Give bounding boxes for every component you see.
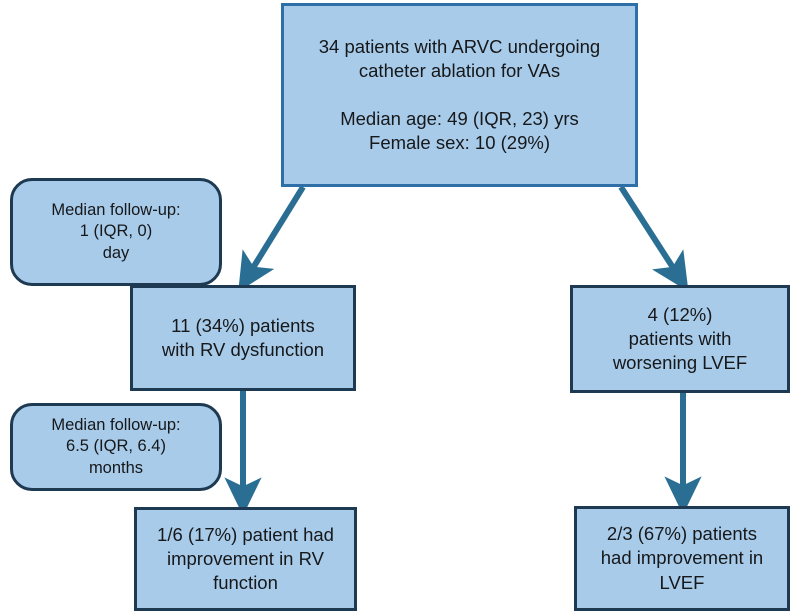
node-followup-1: Median follow-up: 1 (IQR, 0) day	[10, 178, 222, 286]
node-cohort: 34 patients with ARVC undergoing cathete…	[281, 3, 638, 187]
node-lvef-improvement: 2/3 (67%) patients had improvement in LV…	[574, 506, 790, 611]
node-rv-improvement: 1/6 (17%) patient had improvement in RV …	[134, 507, 357, 611]
node-rv-dysfunction: 11 (34%) patients with RV dysfunction	[130, 285, 356, 391]
flowchart-canvas: 34 patients with ARVC undergoing cathete…	[0, 0, 800, 615]
node-worsening-lvef: 4 (12%) patients with worsening LVEF	[570, 285, 790, 393]
arrow-cohort-to-rv-dysfunction	[246, 187, 304, 280]
node-followup-2: Median follow-up: 6.5 (IQR, 6.4) months	[10, 403, 222, 491]
arrow-cohort-to-worsening-lvef	[621, 187, 681, 280]
